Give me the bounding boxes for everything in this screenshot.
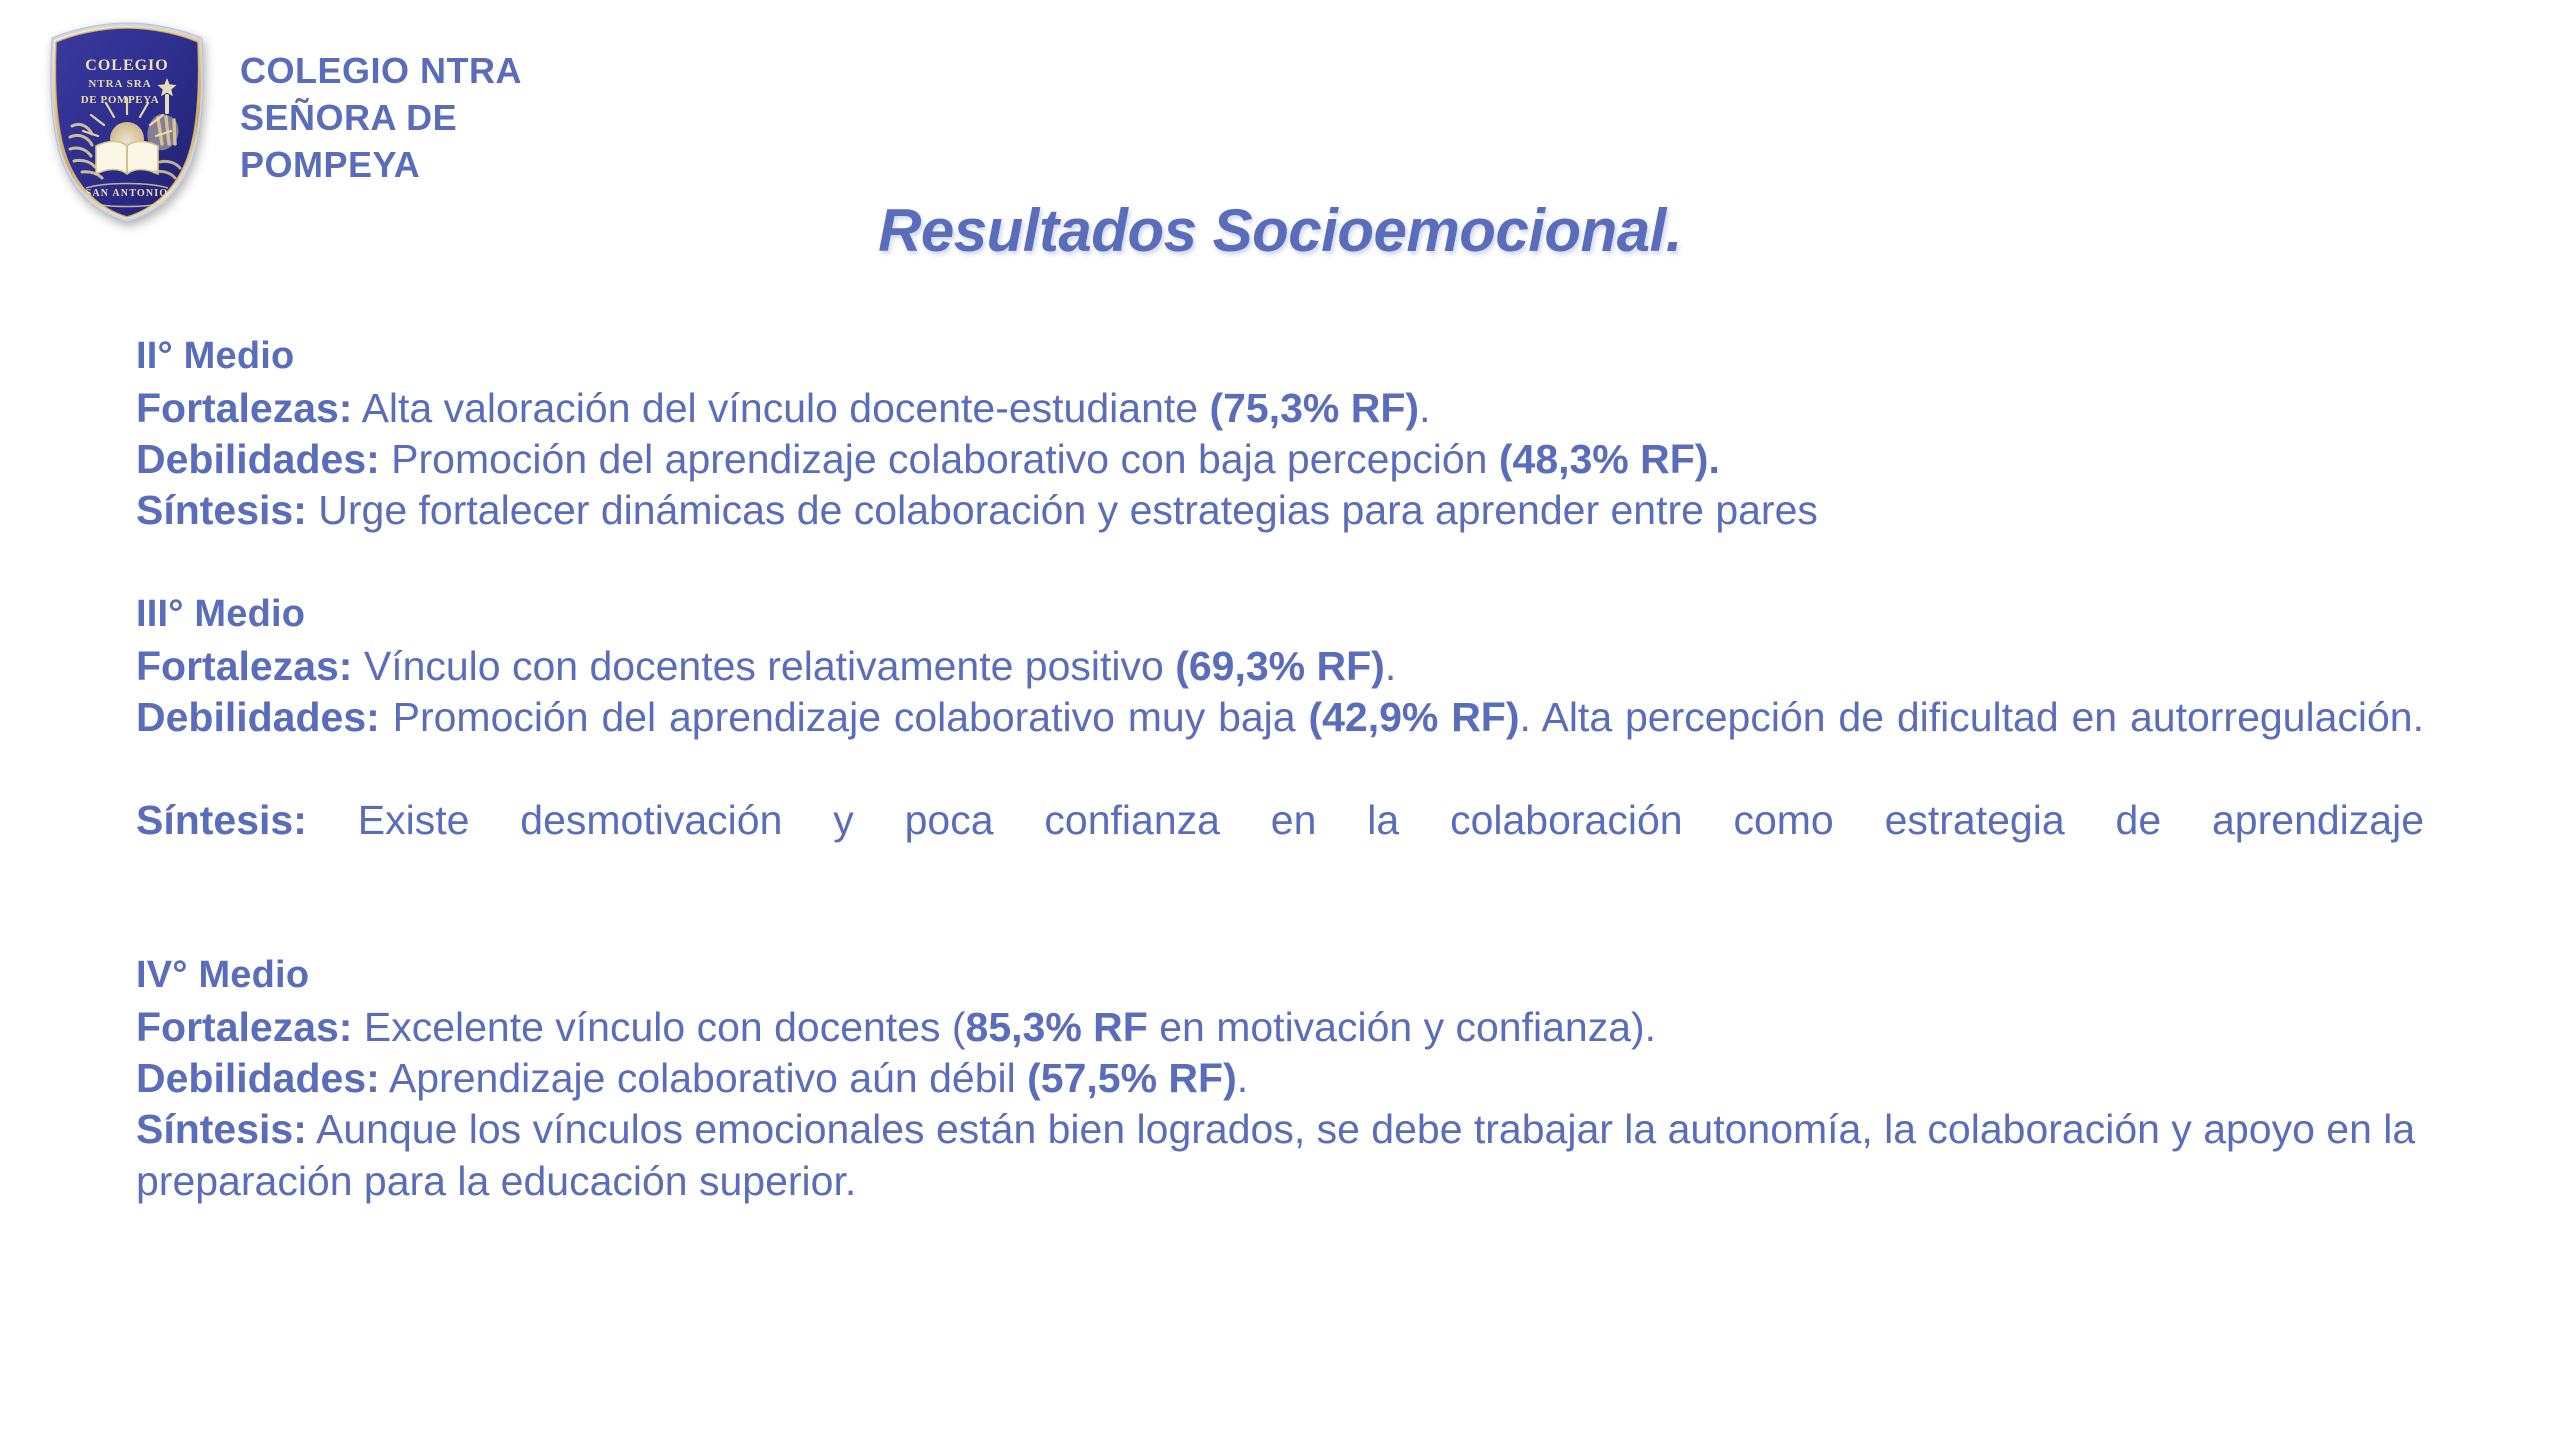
result-metric: 85,3% RF (966, 1004, 1148, 1050)
result-metric: (69,3% RF) (1175, 643, 1385, 689)
level-heading: IV° Medio (136, 951, 2424, 1000)
result-line-text: Aunque los vínculos emocionales están bi… (136, 1106, 2415, 1203)
level-block: IV° MedioFortalezas: Excelente vínculo c… (136, 951, 2424, 1207)
result-line-label: Fortalezas: (136, 643, 352, 689)
result-metric: (42,9% RF) (1308, 694, 1519, 740)
result-line-label: Síntesis: (136, 487, 307, 533)
level-heading: III° Medio (136, 590, 2424, 639)
result-line: Síntesis: Urge fortalecer dinámicas de c… (136, 485, 2424, 536)
result-line: Debilidades: Promoción del aprendizaje c… (136, 434, 2424, 485)
result-metric: (75,3% RF) (1209, 385, 1419, 431)
result-line-text: Promoción del aprendizaje colaborativo m… (380, 694, 1309, 740)
svg-text:NTRA SRA: NTRA SRA (88, 78, 151, 90)
school-crest-shield-icon: COLEGIO NTRA SRA DE POMPEYA (36, 22, 218, 222)
result-line: Síntesis: Aunque los vínculos emocionale… (136, 1104, 2424, 1207)
result-line: Fortalezas: Vínculo con docentes relativ… (136, 641, 2424, 692)
result-line: Debilidades: Aprendizaje colaborativo aú… (136, 1053, 2424, 1104)
slide-root: COLEGIO NTRA SRA DE POMPEYA (0, 0, 2560, 1440)
result-line-text: Alta valoración del vínculo docente-estu… (352, 385, 1209, 431)
result-line: Síntesis: Existe desmotivación y poca co… (136, 795, 2424, 898)
result-line-text: . (1419, 385, 1430, 431)
result-metric: (48,3% RF). (1499, 436, 1720, 482)
level-block: III° MedioFortalezas: Vínculo con docent… (136, 590, 2424, 897)
result-line-text: Excelente vínculo con docentes ( (352, 1004, 965, 1050)
brand-name: COLEGIO NTRA SEÑORA DE POMPEYA (240, 48, 522, 188)
result-line-text: Existe desmotivación y poca confianza en… (307, 797, 2424, 843)
result-line-label: Síntesis: (136, 797, 307, 843)
page-title: Resultados Socioemocional. (0, 196, 2560, 265)
result-line-text: Urge fortalecer dinámicas de colaboració… (307, 487, 1818, 533)
result-line-text: Aprendizaje colaborativo aún débil (380, 1055, 1027, 1101)
result-line: Debilidades: Promoción del aprendizaje c… (136, 692, 2424, 795)
brand-lockup: COLEGIO NTRA SRA DE POMPEYA (36, 22, 522, 222)
result-line-label: Debilidades: (136, 694, 380, 740)
result-line-label: Síntesis: (136, 1106, 307, 1152)
result-line-label: Debilidades: (136, 1055, 380, 1101)
results-content: II° MedioFortalezas: Alta valoración del… (136, 332, 2424, 1207)
result-line-text: Vínculo con docentes relativamente posit… (352, 643, 1175, 689)
level-block: II° MedioFortalezas: Alta valoración del… (136, 332, 2424, 536)
result-line-text: Promoción del aprendizaje colaborativo c… (380, 436, 1499, 482)
svg-text:COLEGIO: COLEGIO (85, 57, 168, 74)
result-line-label: Fortalezas: (136, 385, 352, 431)
result-metric: (57,5% RF) (1027, 1055, 1237, 1101)
result-line: Fortalezas: Excelente vínculo con docent… (136, 1002, 2424, 1053)
result-line-text: . (1237, 1055, 1248, 1101)
result-line-label: Fortalezas: (136, 1004, 352, 1050)
result-line-label: Debilidades: (136, 436, 380, 482)
result-line-text: . Alta percepción de dificultad en autor… (1520, 694, 2425, 740)
result-line: Fortalezas: Alta valoración del vínculo … (136, 383, 2424, 434)
result-line-text: . (1385, 643, 1396, 689)
result-line-text: en motivación y confianza). (1148, 1004, 1656, 1050)
level-heading: II° Medio (136, 332, 2424, 381)
